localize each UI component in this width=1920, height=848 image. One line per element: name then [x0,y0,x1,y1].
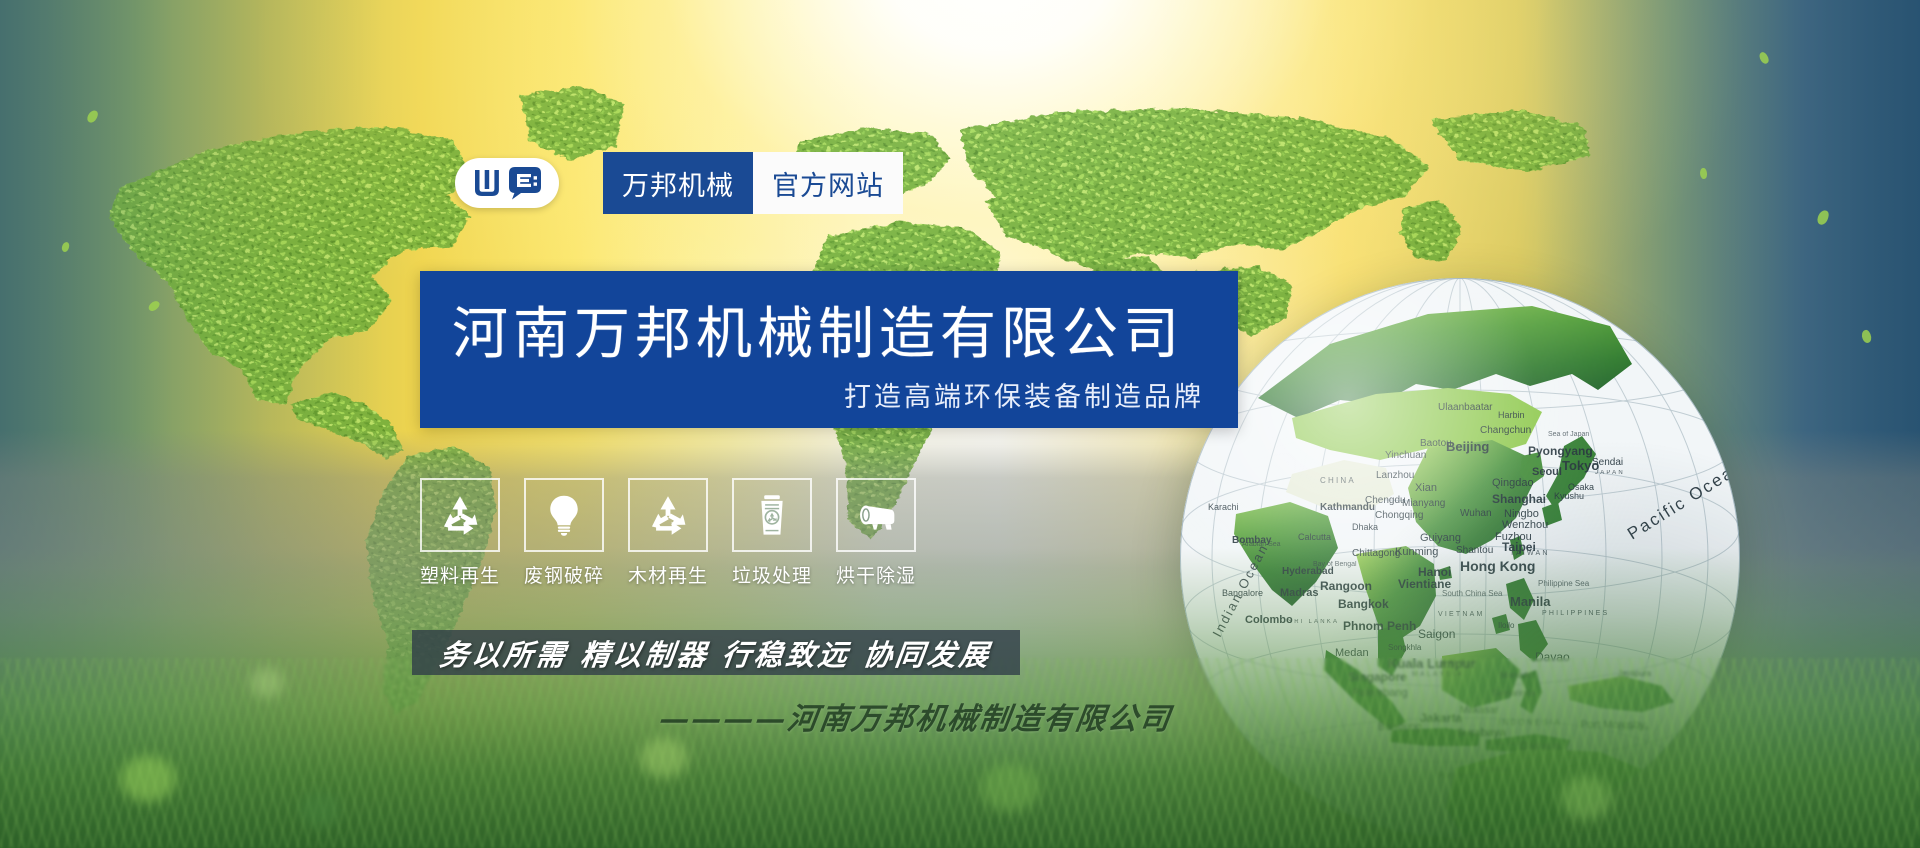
feature-label: 烘干除湿 [836,561,916,588]
globe-city-label: Pyongyang [1528,444,1593,458]
recycle-icon [646,492,690,538]
hero-banner: BeijingUlaanbaatarPyongyangSeoulTokyoSen… [0,0,1920,848]
grass-blades-texture [0,658,1920,848]
w-monogram-icon [473,168,501,198]
globe-city-label: Mianyang [1402,498,1445,509]
feature-icon-box [628,478,708,552]
feature-label: 废钢破碎 [524,561,604,588]
feature-icon-box [420,478,500,552]
feature-icon-box [732,478,812,552]
dryer-drum-icon [854,492,898,538]
hero-title-panel: 河南万邦机械制造有限公司 打造高端环保装备制造品牌 [420,271,1238,428]
feature-icon-box [524,478,604,552]
globe-country-label: CHINA [1320,476,1356,485]
recycle-icon [438,492,482,538]
globe-city-label: Ulaanbaatar [1438,402,1493,413]
bokeh-blur [300,792,340,828]
slogan-text: 务以所需 精以制器 行稳致远 协同发展 [438,632,994,674]
globe-city-label: Dhaka [1352,522,1378,532]
feature-label: 木材再生 [628,561,708,588]
feature-item-scrap-steel-crushing[interactable]: 废钢破碎 [524,478,604,588]
globe-sea-label: Sea of Japan [1548,431,1589,438]
feature-label: 垃圾处理 [732,561,812,588]
page-title: 河南万邦机械制造有限公司 [452,289,1184,370]
feature-item-plastic-recycling[interactable]: 塑料再生 [420,478,500,588]
site-header: 万邦机械 官方网站 [455,152,903,214]
feature-icon-box [836,478,916,552]
globe-city-label: Wenzhou [1502,519,1548,531]
globe-city-label: Qingdao [1492,477,1534,489]
bokeh-blur [980,764,1040,812]
feature-icon-row: 塑料再生 废钢破碎 [420,478,916,588]
globe-city-label: Beijing [1446,439,1489,454]
nav-item-brand[interactable]: 万邦机械 [603,152,753,214]
feature-item-waste-treatment[interactable]: 垃圾处理 [732,478,812,588]
globe-city-label: Guiyang [1420,532,1461,544]
page-subtitle: 打造高端环保装备制造品牌 [844,375,1204,414]
bokeh-blur [1560,776,1612,820]
globe-city-label: Shanghai [1492,492,1546,506]
globe-city-label: Kyushu [1554,491,1584,501]
trash-bin-icon [750,492,794,538]
slogan-signature: ————河南万邦机械制造有限公司 [657,694,1175,738]
globe-city-label: Baotou [1420,438,1452,449]
globe-city-label: Changchun [1480,425,1531,436]
bokeh-blur [250,668,284,698]
globe-city-label: Harbin [1498,410,1525,420]
globe-city-label: Wuhan [1460,508,1492,519]
lightbulb-icon [542,492,586,538]
company-logo[interactable] [455,158,559,208]
globe-city-label: Karachi [1208,502,1239,512]
globe-city-label: Kathmandu [1320,502,1375,513]
bokeh-blur [120,756,176,802]
globe-city-label: Chongqing [1375,510,1423,521]
globe-country-label: JAPAN [1595,470,1625,476]
globe-city-label: Sendai [1592,457,1623,468]
globe-city-label: Xian [1415,482,1437,494]
bokeh-blur [640,738,688,778]
nav-item-website[interactable]: 官方网站 [753,152,903,214]
main-nav: 万邦机械 官方网站 [603,152,903,214]
globe-city-label: Seoul [1532,466,1562,478]
feature-item-drying-dehumidifying[interactable]: 烘干除湿 [836,478,916,588]
feature-label: 塑料再生 [420,561,500,588]
feature-item-wood-recycling[interactable]: 木材再生 [628,478,708,588]
globe-city-label: Calcutta [1298,532,1331,542]
b-speech-bubble-icon [508,166,542,200]
slogan-banner: 务以所需 精以制器 行稳致远 协同发展 [412,630,1020,675]
globe-city-label: Lanzhou [1376,470,1414,481]
globe-city-label: Yinchuan [1385,450,1426,461]
